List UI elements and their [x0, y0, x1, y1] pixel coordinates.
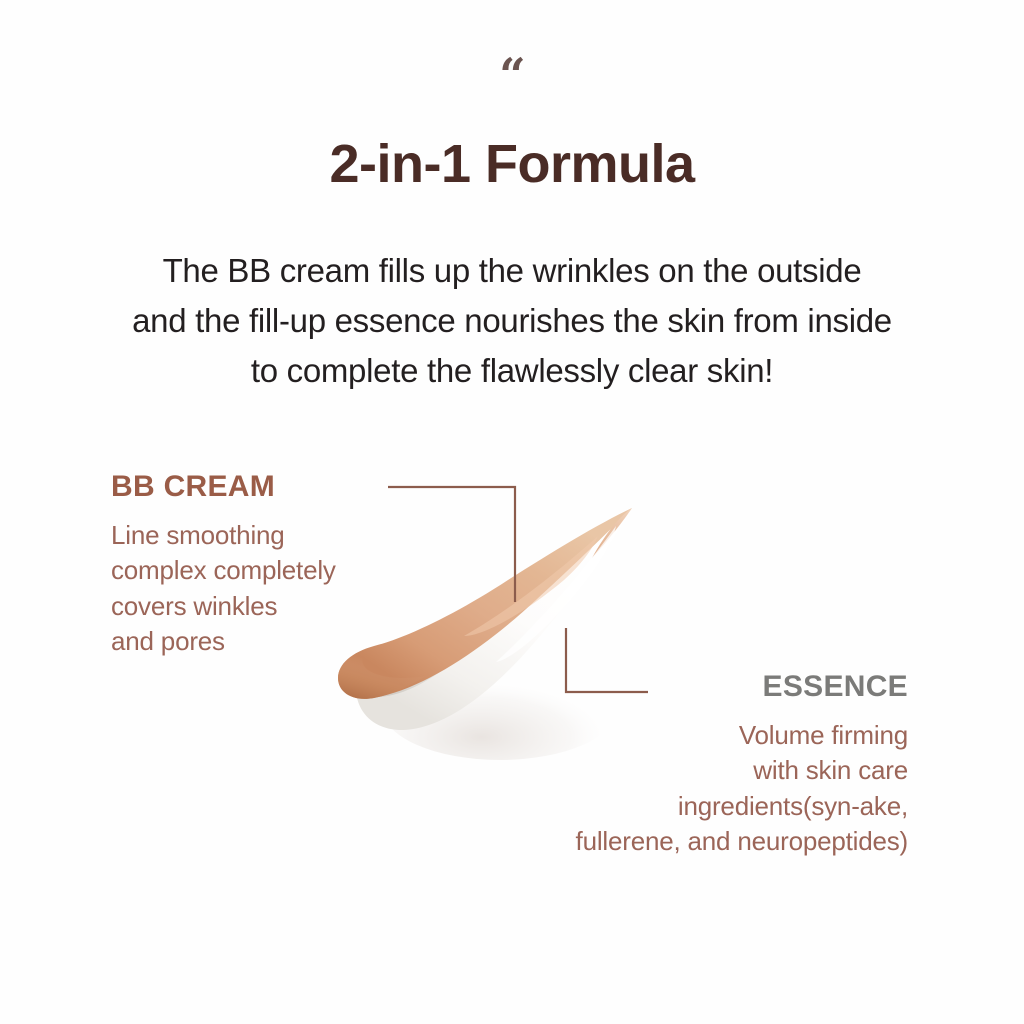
bb-cream-heading: BB CREAM — [111, 470, 421, 505]
page-title: 2-in-1 Formula — [0, 135, 1024, 194]
bb-cream-desc-line-3: covers winkles — [111, 589, 421, 625]
intro-line-2: and the fill-up essence nourishes the sk… — [62, 296, 962, 346]
bb-cream-description: Line smoothing complex completely covers… — [111, 518, 421, 660]
opening-quote-icon: “ — [0, 52, 1024, 98]
callout-bb-cream: BB CREAM Line smoothing complex complete… — [111, 470, 421, 660]
intro-paragraph: The BB cream fills up the wrinkles on th… — [62, 246, 962, 396]
bb-cream-desc-line-2: complex completely — [111, 553, 421, 589]
essence-desc-line-3: ingredients(syn-ake, — [478, 789, 908, 825]
intro-line-3: to complete the flawlessly clear skin! — [62, 346, 962, 396]
essence-desc-line-2: with skin care — [478, 753, 908, 789]
bb-cream-desc-line-1: Line smoothing — [111, 518, 421, 554]
intro-line-1: The BB cream fills up the wrinkles on th… — [62, 246, 962, 296]
essence-desc-line-1: Volume firming — [478, 718, 908, 754]
infographic-page: “ 2-in-1 Formula The BB cream fills up t… — [0, 0, 1024, 1024]
bb-cream-desc-line-4: and pores — [111, 624, 421, 660]
essence-description: Volume firming with skin care ingredient… — [478, 718, 908, 860]
essence-desc-line-4: fullerene, and neuropeptides) — [478, 824, 908, 860]
callout-essence: ESSENCE Volume firming with skin care in… — [478, 670, 908, 860]
essence-heading: ESSENCE — [478, 670, 908, 705]
